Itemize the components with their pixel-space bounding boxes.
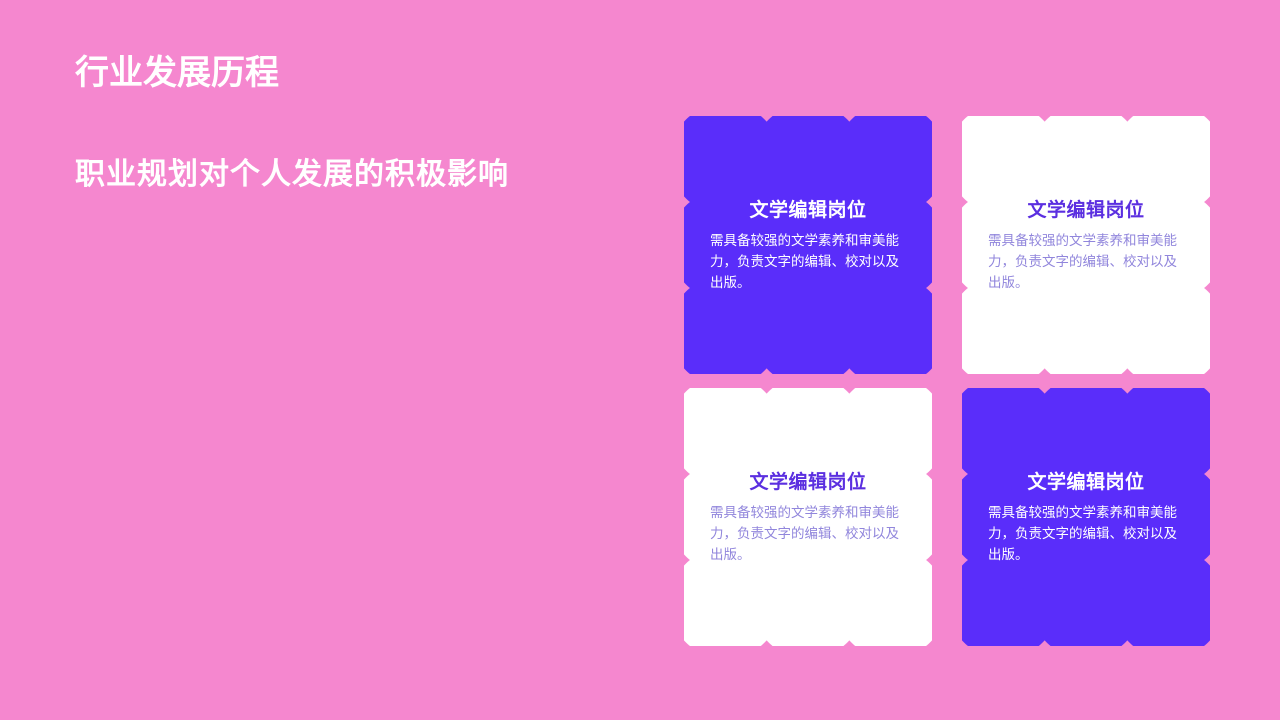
card-title: 文学编辑岗位 bbox=[749, 198, 866, 224]
slide-canvas: 行业发展历程 职业规划对个人发展的积极影响 文学编辑岗位 需具备较强的文学素养和… bbox=[0, 0, 1280, 720]
card-description: 需具备较强的文学素养和审美能力，负责文字的编辑、校对以及出版。 bbox=[988, 230, 1184, 293]
card-description: 需具备较强的文学素养和审美能力，负责文字的编辑、校对以及出版。 bbox=[988, 502, 1184, 565]
card-top-left[interactable]: 文学编辑岗位 需具备较强的文学素养和审美能力，负责文字的编辑、校对以及出版。 bbox=[684, 116, 932, 374]
slide-text-block: 行业发展历程 职业规划对个人发展的积极影响 bbox=[75, 52, 615, 94]
page-title: 行业发展历程 bbox=[75, 52, 615, 94]
card-top-right[interactable]: 文学编辑岗位 需具备较强的文学素养和审美能力，负责文字的编辑、校对以及出版。 bbox=[962, 116, 1210, 374]
card-content: 文学编辑岗位 需具备较强的文学素养和审美能力，负责文字的编辑、校对以及出版。 bbox=[684, 388, 932, 646]
card-title: 文学编辑岗位 bbox=[1027, 470, 1144, 496]
card-grid: 文学编辑岗位 需具备较强的文学素养和审美能力，负责文字的编辑、校对以及出版。 文… bbox=[684, 116, 1210, 646]
card-description: 需具备较强的文学素养和审美能力，负责文字的编辑、校对以及出版。 bbox=[710, 230, 906, 293]
card-bottom-left[interactable]: 文学编辑岗位 需具备较强的文学素养和审美能力，负责文字的编辑、校对以及出版。 bbox=[684, 388, 932, 646]
page-subtitle: 职业规划对个人发展的积极影响 bbox=[75, 156, 509, 194]
card-description: 需具备较强的文学素养和审美能力，负责文字的编辑、校对以及出版。 bbox=[710, 502, 906, 565]
card-bottom-right[interactable]: 文学编辑岗位 需具备较强的文学素养和审美能力，负责文字的编辑、校对以及出版。 bbox=[962, 388, 1210, 646]
card-title: 文学编辑岗位 bbox=[1027, 198, 1144, 224]
card-content: 文学编辑岗位 需具备较强的文学素养和审美能力，负责文字的编辑、校对以及出版。 bbox=[684, 116, 932, 374]
card-content: 文学编辑岗位 需具备较强的文学素养和审美能力，负责文字的编辑、校对以及出版。 bbox=[962, 116, 1210, 374]
card-title: 文学编辑岗位 bbox=[749, 470, 866, 496]
card-content: 文学编辑岗位 需具备较强的文学素养和审美能力，负责文字的编辑、校对以及出版。 bbox=[962, 388, 1210, 646]
